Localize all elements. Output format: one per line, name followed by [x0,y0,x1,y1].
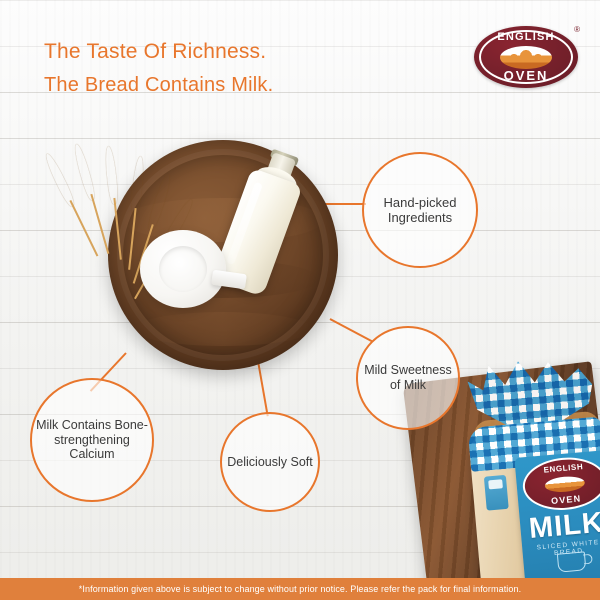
wheat-stalk [146,173,172,231]
callout-calcium[interactable]: Milk Contains Bone-strengthening Calcium [30,378,154,502]
package-logo-text-bottom: OVEN [526,491,600,508]
headline-line-2: The Bread Contains Milk. [44,74,273,97]
registered-trademark-icon: ® [574,25,580,34]
wheat-stalk [72,143,97,201]
disclaimer-text: *Information given above is subject to c… [79,584,521,594]
logo-text-bottom: OVEN [474,68,578,83]
callout-mild-sweetness[interactable]: Mild Sweetness of Milk [356,326,460,430]
connector-line-deliciously-soft [257,361,269,416]
wheat-stalk [104,146,119,205]
advertisement-canvas: The Taste Of Richness. The Bread Contain… [0,0,600,600]
jug-milk-surface [159,246,207,292]
logo-oven-landscape-icon [500,46,552,69]
logo-text-top: ENGLISH [474,31,578,43]
plank-seam [0,138,600,139]
callout-deliciously-soft[interactable]: Deliciously Soft [220,412,320,512]
tray-woodgrain [134,312,312,346]
certification-badge [484,475,509,511]
milk-cup-icon [557,551,587,572]
wheat-stalk [130,156,145,215]
bread-package: ENGLISH OVEN MILK SLICED WHITE BREAD [456,354,600,598]
disclaimer-bar: *Information given above is subject to c… [0,578,600,600]
callout-hand-picked[interactable]: Hand-picked Ingredients [362,152,478,268]
english-oven-logo: ENGLISH OVEN ® [474,26,578,88]
wheat-stalk [43,152,77,208]
headline-line-1: The Taste Of Richness. [44,40,266,64]
package-logo-landscape-icon [544,475,585,493]
milk-jug [140,230,244,308]
package-front-label: ENGLISH OVEN MILK SLICED WHITE BREAD [514,450,600,588]
package-logo-text-top: ENGLISH [523,460,600,476]
package-logo: ENGLISH OVEN [521,454,600,513]
